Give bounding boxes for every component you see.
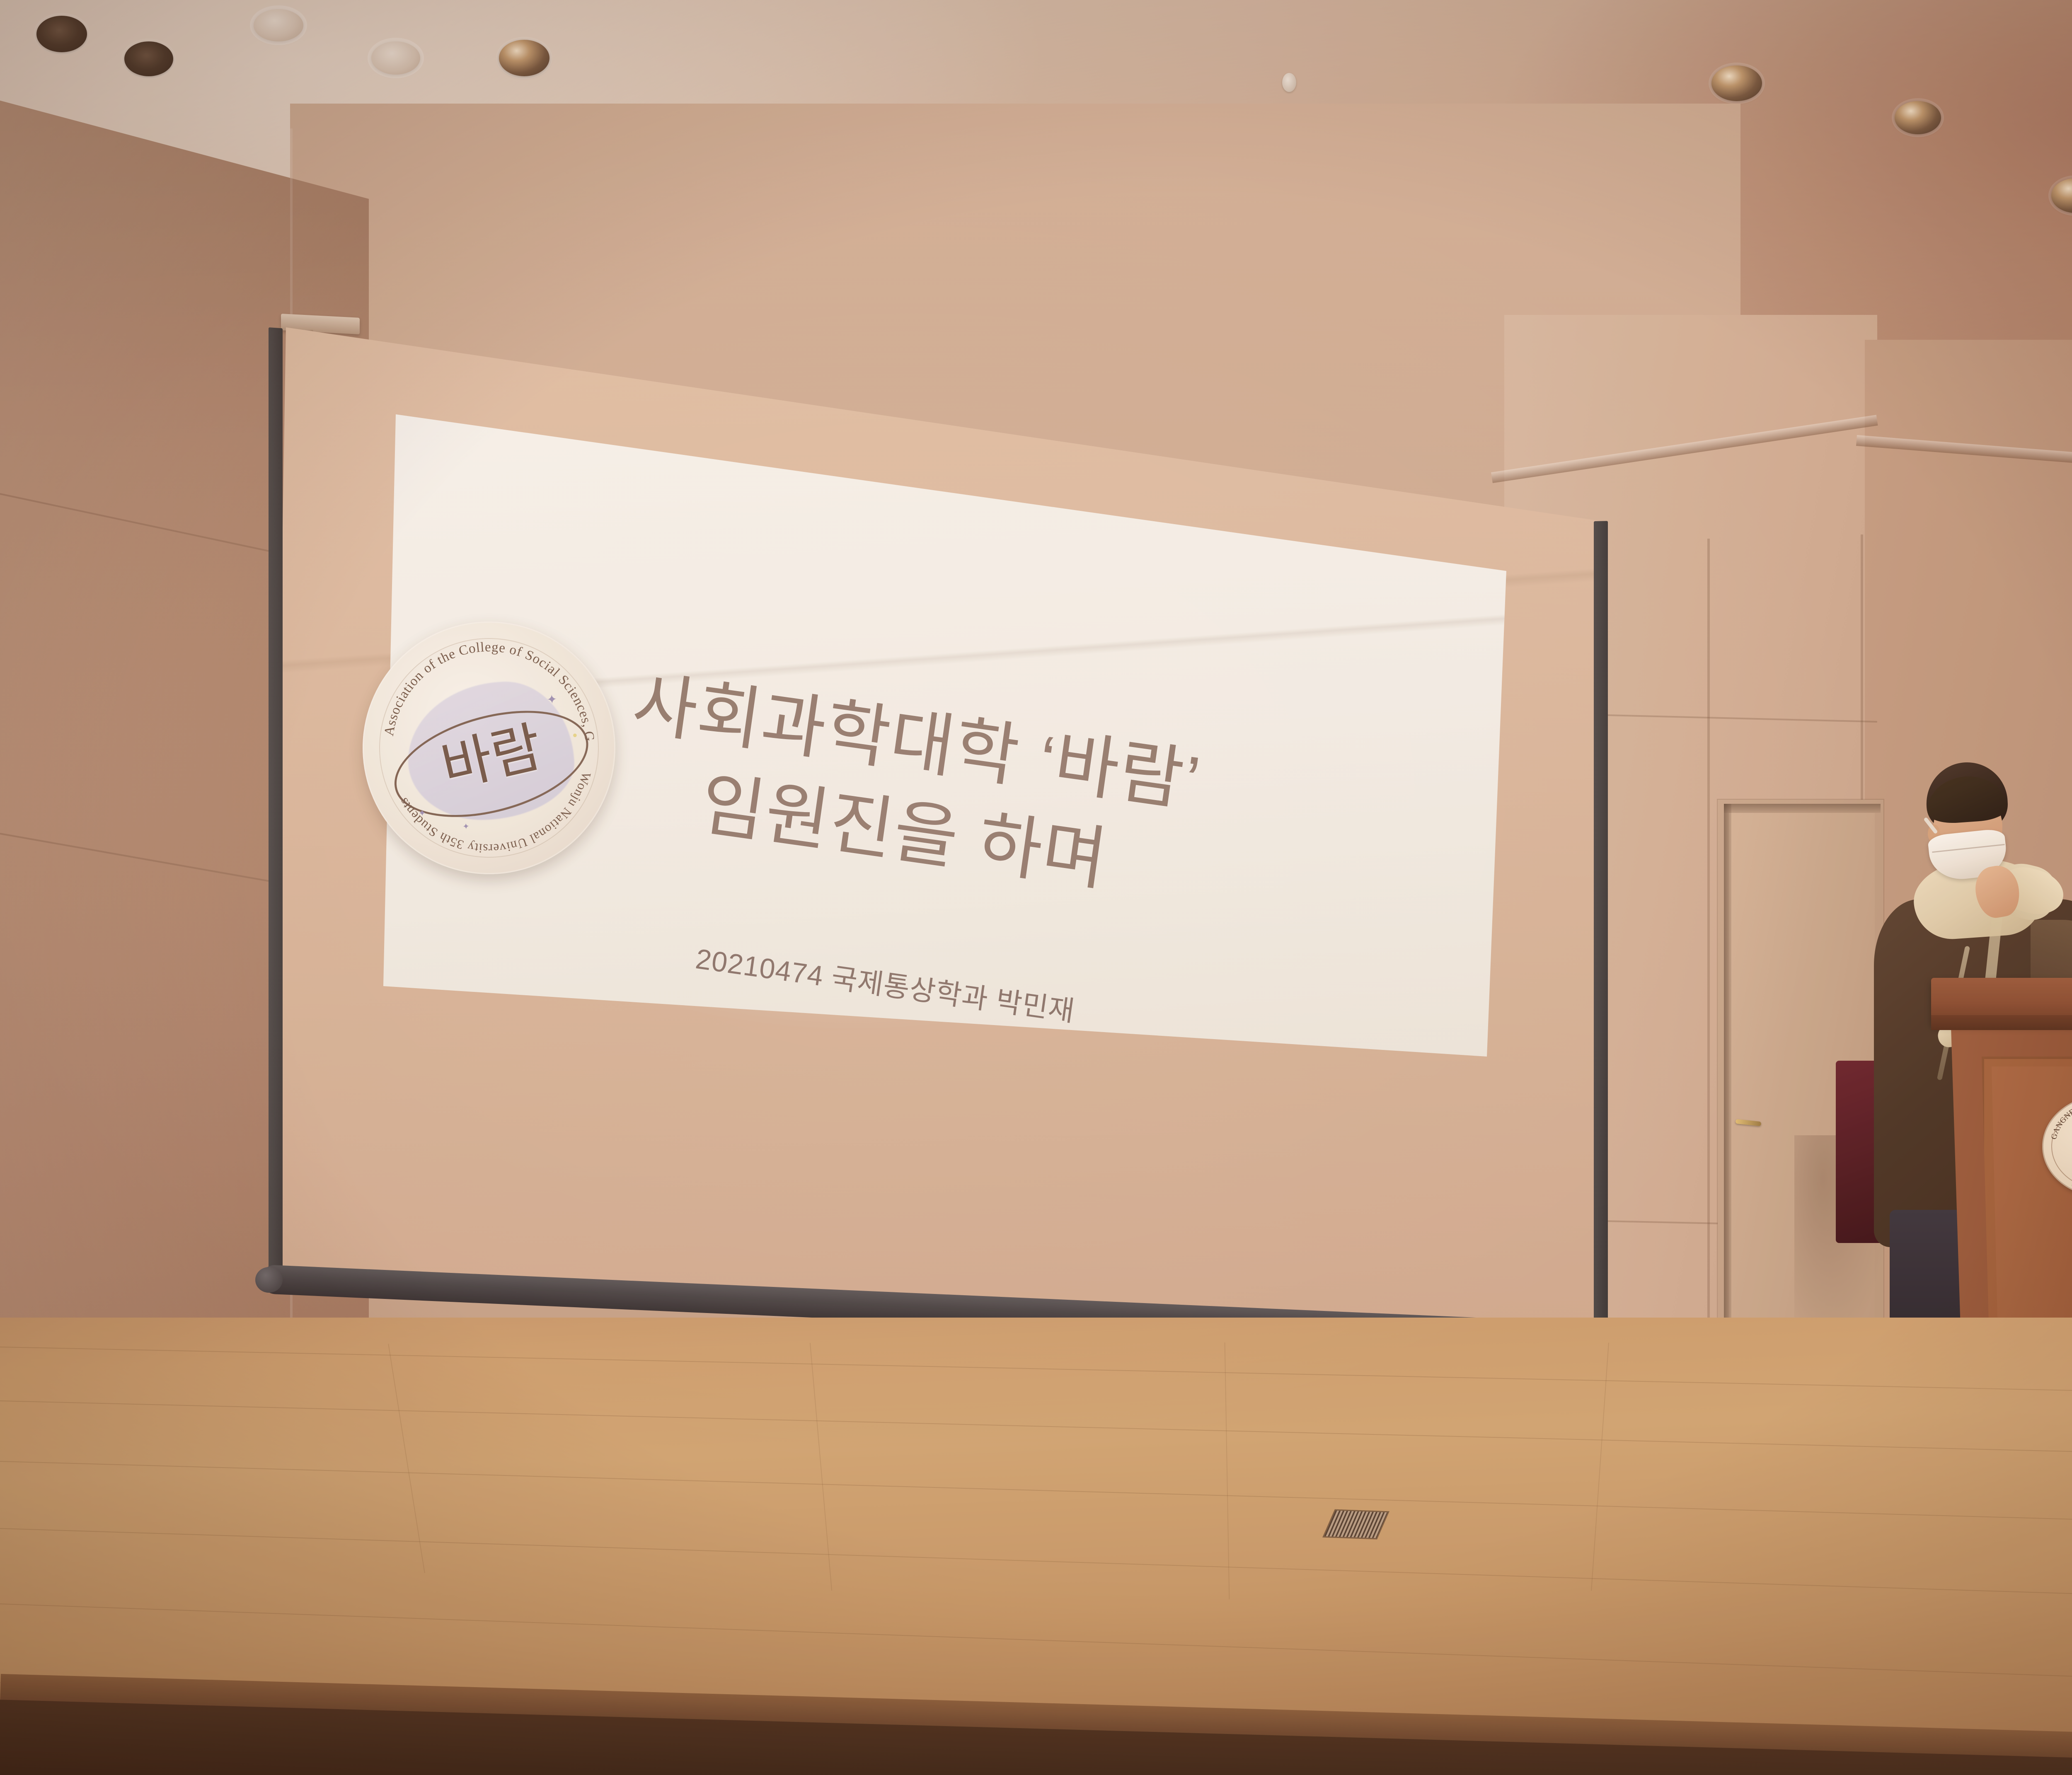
baram-emblem: Association of the College of Social Sci… <box>354 613 624 883</box>
podium-top-face <box>1931 1015 2072 1030</box>
emblem-sparkle-icon: ✦ <box>418 808 426 819</box>
seal-arc-top-text: GANGNEUNG-WONJU NATIONAL UNIVERSITY <box>2041 1093 2072 1146</box>
screen-edge-left <box>269 327 283 1289</box>
downlight-icon <box>499 40 549 76</box>
svg-text:강릉원주대학교: 강릉원주대학교 <box>2069 1176 2072 1197</box>
ceiling-vent-icon <box>371 41 420 75</box>
downlight-icon <box>36 16 87 52</box>
downlight-icon <box>1895 101 1941 134</box>
photo-scene: 사회과학대학 ‘바람’ 임원진을 하며 20210474 국제통상학과 박민재 … <box>0 0 2072 1775</box>
downlight-icon <box>1711 65 1762 101</box>
seal-arc-bottom-text: 강릉원주대학교 <box>2069 1176 2072 1197</box>
emblem-sparkle-icon: ✦ <box>546 692 558 707</box>
emblem-sparkle-icon: ● <box>572 730 578 740</box>
slide-subtitle: 20210474 국제통상학과 박민재 <box>693 942 1314 1062</box>
wall-seam <box>1707 539 1710 1351</box>
university-seal: GANGNEUNG-WONJU NATIONAL UNIVERSITY 강릉원주… <box>2041 1093 2072 1198</box>
downlight-icon <box>124 41 173 76</box>
ceiling-vent-icon <box>254 9 303 41</box>
svg-text:GANGNEUNG-WONJU NATIONAL UNIVE: GANGNEUNG-WONJU NATIONAL UNIVERSITY <box>2041 1093 2072 1146</box>
screen-bar-end-cap <box>255 1267 283 1293</box>
screen-edge-right <box>1594 521 1608 1333</box>
seal-arc-text: GANGNEUNG-WONJU NATIONAL UNIVERSITY 강릉원주… <box>2041 1093 2072 1198</box>
sprinkler-icon <box>1282 73 1296 92</box>
floor-outlet-grate <box>1324 1511 1387 1538</box>
emblem-sparkle-icon: ✦ <box>462 821 470 832</box>
door-reveal <box>1724 804 1731 1351</box>
